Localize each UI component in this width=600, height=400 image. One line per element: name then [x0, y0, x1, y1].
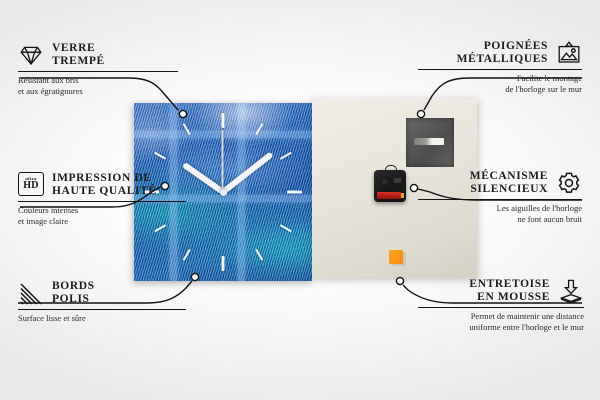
connector-dot-entretoise — [396, 277, 403, 284]
connector-dot-mecanisme — [410, 184, 417, 191]
callout-divider — [18, 71, 178, 72]
connector-dot-verre-trempe — [179, 110, 186, 117]
diagonal-lines-icon — [18, 280, 44, 306]
callout-subtitle: Surface lisse et sûre — [18, 313, 186, 324]
callout-title: BORDS POLIS — [52, 280, 95, 306]
callout-subtitle: Les aiguilles de l'horloge ne font aucun… — [418, 203, 582, 224]
callout-mecanisme-silencieux: MÉCANISME SILENCIEUX Les aiguilles de l'… — [418, 170, 582, 224]
callout-entretoise-en-mousse: ENTRETOISE EN MOUSSE Permet de maintenir… — [418, 278, 584, 332]
callout-subtitle: Résistant aux bris et aux égratignures — [18, 75, 178, 96]
callout-title: VERRE TREMPÉ — [52, 42, 105, 68]
callout-bords-polis: BORDS POLIS Surface lisse et sûre — [18, 280, 186, 324]
callout-divider — [418, 69, 582, 70]
callout-impression-haute-qualite: ultra HD IMPRESSION DE HAUTE QUALITÉ Cou… — [18, 172, 186, 226]
hd-badge-large-text: HD — [23, 181, 38, 191]
callout-subtitle: Facilite le montage de l'horloge sur le … — [418, 73, 582, 94]
callout-poignees-metalliques: POIGNÉES MÉTALLIQUES Facilite le montage… — [418, 40, 582, 94]
gear-icon — [556, 170, 582, 196]
diamond-icon — [18, 42, 44, 68]
ultra-hd-badge-icon: ultra HD — [18, 172, 44, 198]
connector-dot-poignees — [417, 110, 424, 117]
hanging-picture-frame-icon — [556, 40, 582, 66]
arrow-onto-layers-icon — [558, 278, 584, 304]
callout-subtitle: Permet de maintenir une distance uniform… — [418, 311, 584, 332]
callout-title: POIGNÉES MÉTALLIQUES — [457, 40, 548, 66]
infographic-canvas: VERRE TREMPÉ Résistant aux bris et aux é… — [0, 0, 600, 400]
callout-verre-trempe: VERRE TREMPÉ Résistant aux bris et aux é… — [18, 42, 178, 96]
callout-title: ENTRETOISE EN MOUSSE — [469, 278, 550, 304]
callout-divider — [418, 199, 582, 200]
callout-title: IMPRESSION DE HAUTE QUALITÉ — [52, 172, 157, 198]
callout-divider — [18, 309, 186, 310]
callout-title: MÉCANISME SILENCIEUX — [470, 170, 548, 196]
callout-subtitle: Couleurs intenses et image claire — [18, 205, 186, 226]
connector-dot-bords-polis — [191, 273, 198, 280]
callout-divider — [18, 201, 186, 202]
callout-divider — [418, 307, 584, 308]
